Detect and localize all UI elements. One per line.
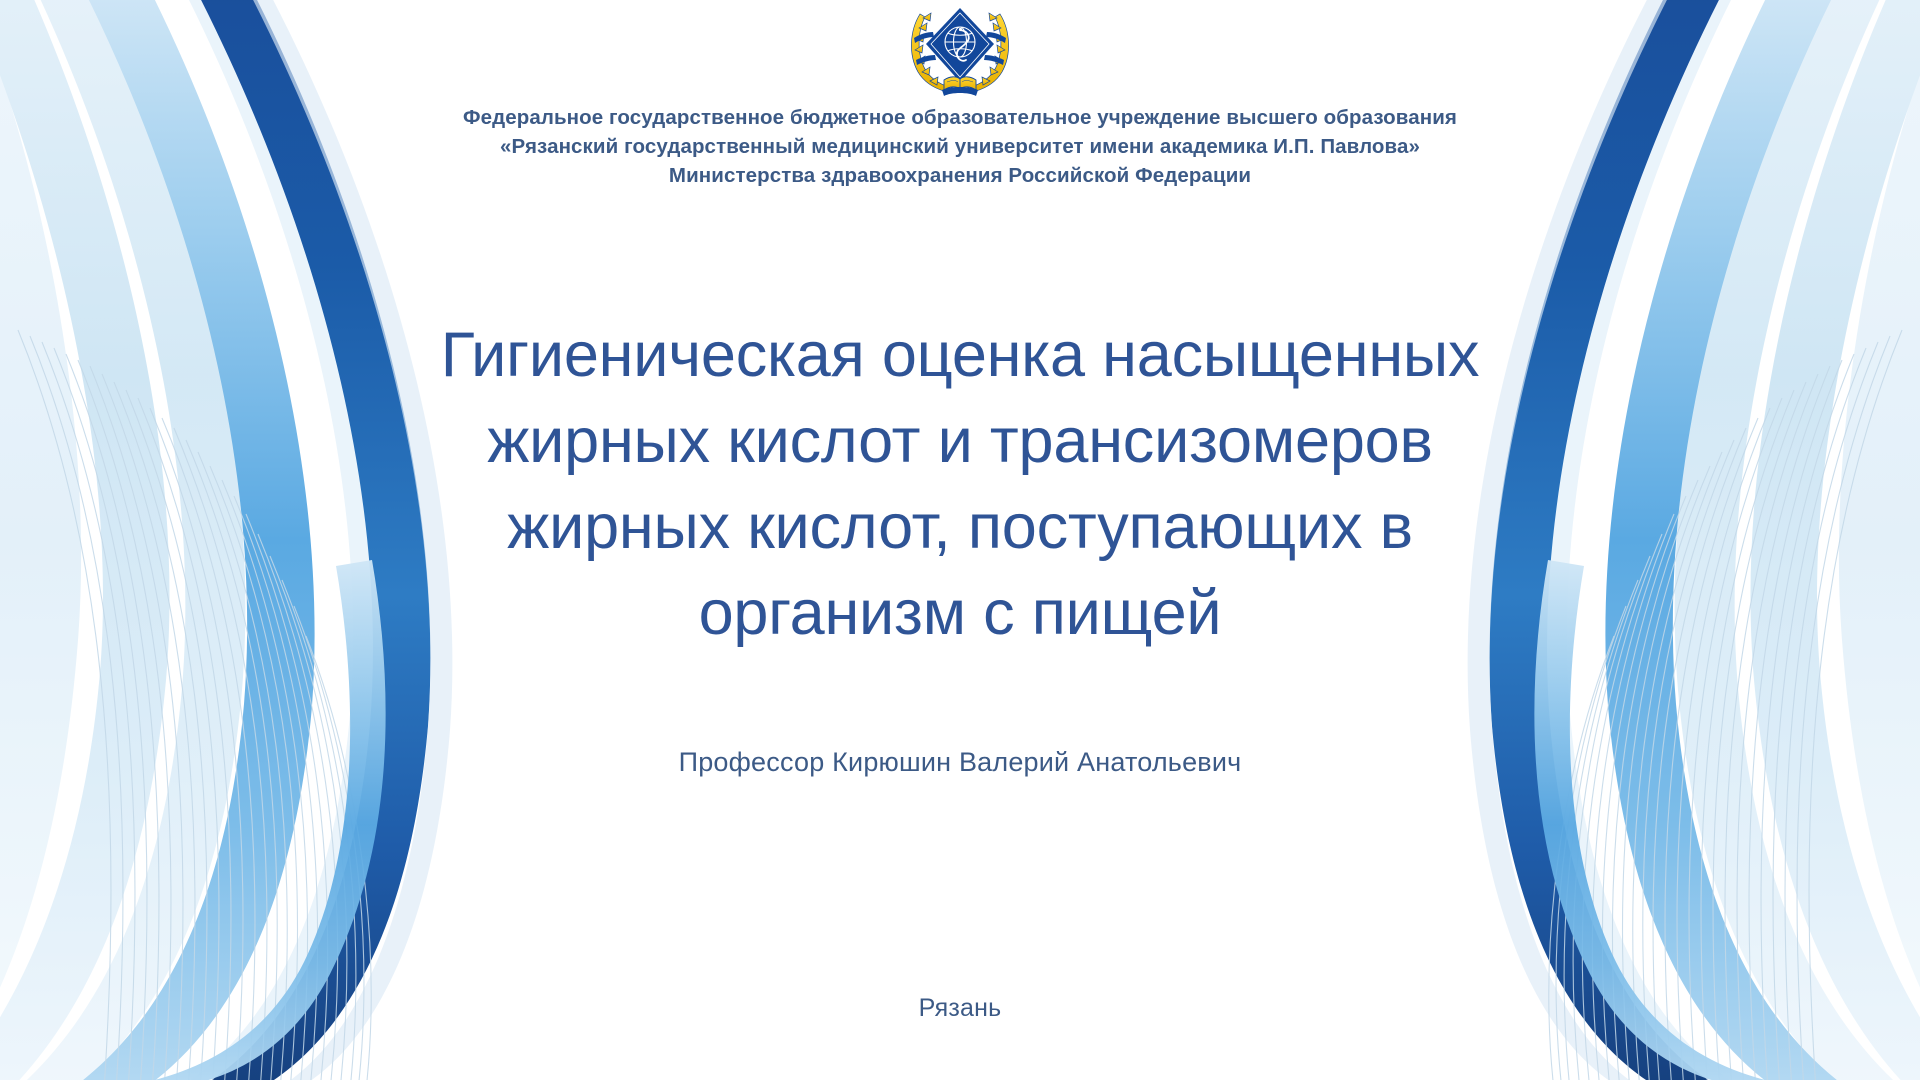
presentation-author: Профессор Кирюшин Валерий Анатольевич [0,747,1920,778]
title-line-1: Гигиеническая оценка насыщенных [240,312,1680,398]
title-slide: 0 [0,0,1920,1080]
university-logo [900,2,1020,98]
bottom-ribbon [942,87,978,96]
institution-line-1: Федеральное государственное бюджетное об… [0,103,1920,132]
blue-diamond-shield-icon [926,8,994,82]
title-line-3: жирных кислот, поступающих в [240,484,1680,570]
title-line-2: жирных кислот и транс­изомеров [240,398,1680,484]
institution-line-2: «Рязанский государственный медицинский у… [0,132,1920,161]
presentation-city: Рязань [0,994,1920,1023]
institution-header: Федеральное государственное бюджетное об… [0,103,1920,190]
institution-line-3: Министерства здравоохранения Российской … [0,161,1920,190]
presentation-title: Гигиеническая оценка насыщенных жирных к… [240,312,1680,656]
title-line-4: организм с пищей [240,570,1680,656]
